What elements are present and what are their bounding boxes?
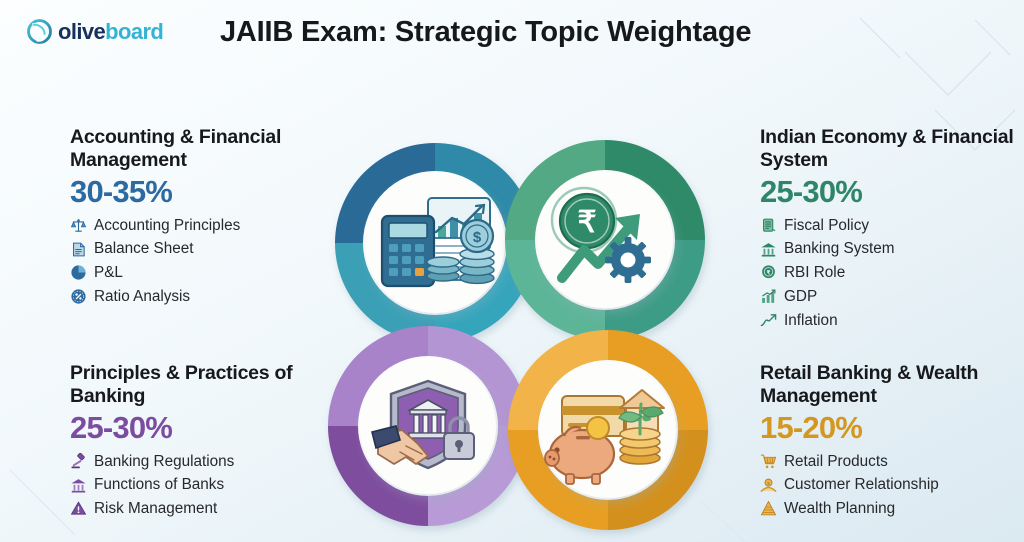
section-topic-list: Retail Products $ Customer Relationship … — [760, 450, 1024, 521]
oliveboard-swirl-icon — [26, 18, 53, 45]
section-title: Retail Banking & Wealth Management — [760, 362, 1024, 408]
list-item: P&L — [70, 261, 332, 285]
list-item-label: P&L — [94, 261, 123, 285]
list-item: Ratio Analysis — [70, 285, 332, 309]
scroll-icon — [760, 217, 777, 234]
bank-building-icon — [70, 477, 87, 494]
list-item: Accounting Principles — [70, 214, 332, 238]
document-icon — [70, 241, 87, 258]
list-item-label: GDP — [784, 285, 817, 309]
list-item-label: Customer Relationship — [784, 473, 939, 497]
gavel-icon — [70, 453, 87, 470]
list-item: GDP — [760, 285, 1022, 309]
scales-icon — [70, 217, 87, 234]
section-weightage: 25-30% — [70, 411, 338, 446]
list-item: Wealth Planning — [760, 497, 1024, 521]
list-item-label: Inflation — [784, 309, 838, 333]
brand-wordmark-part2: board — [105, 19, 163, 44]
percent-badge-icon — [70, 288, 87, 305]
svg-text:$: $ — [767, 481, 770, 487]
list-item: Banking System — [760, 237, 1022, 261]
seal-badge-icon: ₹ — [760, 264, 777, 281]
pie-chart-icon — [70, 264, 87, 281]
list-item: $ Customer Relationship — [760, 473, 1024, 497]
shopping-cart-icon — [760, 453, 777, 470]
list-item-label: RBI Role — [784, 261, 845, 285]
section-topic-list: Banking Regulations Functions of Banks R… — [70, 450, 338, 521]
list-item-label: Risk Management — [94, 497, 217, 521]
section-principles-practices-of-banking: Principles & Practices of Banking 25-30%… — [70, 362, 338, 521]
pyramid-icon — [760, 500, 777, 517]
brand-wordmark-part1: olive — [58, 19, 105, 44]
section-weightage: 30-35% — [70, 175, 332, 210]
center-ring-graphic: $ ₹ — [310, 128, 730, 542]
section-weightage: 15-20% — [760, 411, 1024, 446]
list-item-label: Retail Products — [784, 450, 888, 474]
page-title: JAIIB Exam: Strategic Topic Weightage — [220, 16, 751, 49]
hand-coin-icon: $ — [760, 477, 777, 494]
svg-text:₹: ₹ — [577, 206, 596, 239]
svg-text:$: $ — [473, 229, 482, 246]
page-header: oliveboard JAIIB Exam: Strategic Topic W… — [0, 0, 1024, 72]
list-item-label: Accounting Principles — [94, 214, 240, 238]
list-item: Fiscal Policy — [760, 214, 1022, 238]
section-weightage: 25-30% — [760, 175, 1022, 210]
section-accounting-financial-management: Accounting & Financial Management 30-35%… — [70, 126, 332, 309]
list-item-label: Fiscal Policy — [784, 214, 869, 238]
section-topic-list: Accounting Principles Balance Sheet P&L — [70, 214, 332, 309]
section-topic-list: Fiscal Policy Banking System ₹ RBI Role — [760, 214, 1022, 333]
section-title: Accounting & Financial Management — [70, 126, 332, 172]
list-item-label: Balance Sheet — [94, 237, 194, 261]
list-item: Risk Management — [70, 497, 338, 521]
list-item-label: Banking System — [784, 237, 895, 261]
list-item-label: Functions of Banks — [94, 473, 224, 497]
bank-building-icon — [760, 241, 777, 258]
list-item: Balance Sheet — [70, 237, 332, 261]
section-retail-banking-wealth-management: Retail Banking & Wealth Management 15-20… — [760, 362, 1024, 521]
trend-arrow-icon — [760, 312, 777, 329]
brand-logo[interactable]: oliveboard — [26, 18, 163, 45]
section-title: Principles & Practices of Banking — [70, 362, 338, 408]
list-item: Retail Products — [760, 450, 1024, 474]
svg-text:₹: ₹ — [767, 270, 771, 277]
bar-chart-growth-icon — [760, 288, 777, 305]
list-item-label: Banking Regulations — [94, 450, 234, 474]
warning-triangle-icon — [70, 500, 87, 517]
list-item: Inflation — [760, 309, 1022, 333]
brand-wordmark: oliveboard — [58, 21, 163, 43]
section-title: Indian Economy & Financial System — [760, 126, 1022, 172]
list-item: Banking Regulations — [70, 450, 338, 474]
list-item: ₹ RBI Role — [760, 261, 1022, 285]
list-item-label: Ratio Analysis — [94, 285, 190, 309]
section-indian-economy-financial-system: Indian Economy & Financial System 25-30%… — [760, 126, 1022, 332]
list-item: Functions of Banks — [70, 473, 338, 497]
list-item-label: Wealth Planning — [784, 497, 895, 521]
